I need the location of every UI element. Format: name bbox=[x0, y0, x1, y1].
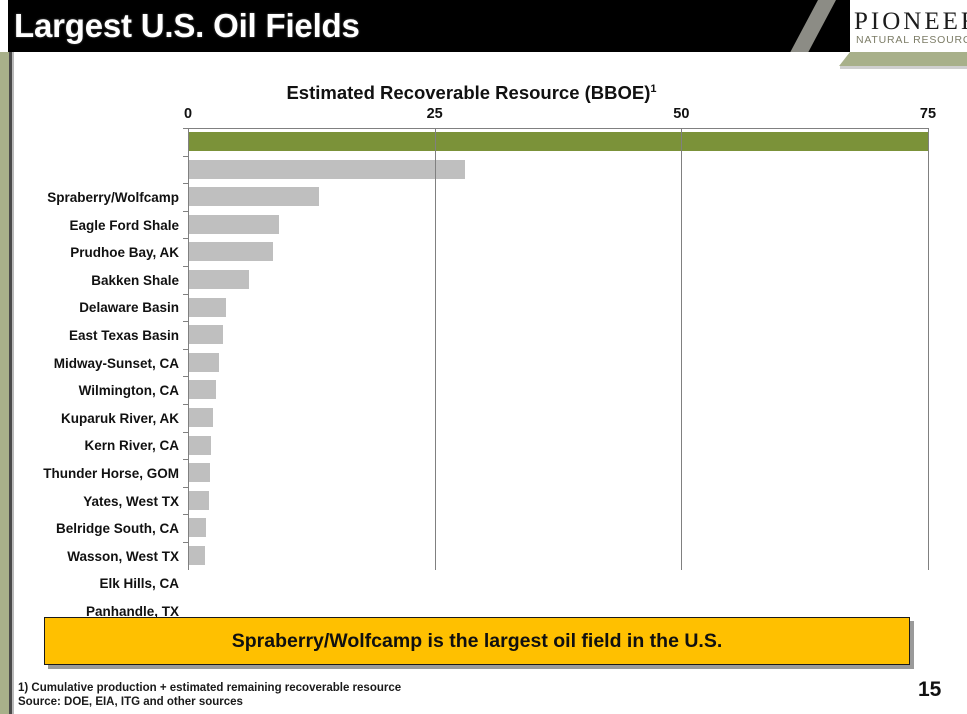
bar-row[interactable] bbox=[188, 514, 929, 542]
y-axis-category-label: Wasson, West TX bbox=[14, 543, 188, 571]
x-tick-label: 50 bbox=[673, 106, 689, 122]
callout-banner-text: Spraberry/Wolfcamp is the largest oil fi… bbox=[232, 630, 723, 653]
chart-title: Estimated Recoverable Resource (BBOE)1 bbox=[14, 82, 929, 104]
bar-row[interactable] bbox=[188, 238, 929, 266]
gridline bbox=[928, 128, 929, 570]
y-axis-category-label: Belridge South, CA bbox=[14, 515, 188, 543]
logo-tagline: NATURAL RESOURCES bbox=[856, 34, 967, 46]
y-axis-category-label: Delaware Basin bbox=[14, 294, 188, 322]
bar[interactable] bbox=[189, 353, 219, 372]
y-axis-category-label: Thunder Horse, GOM bbox=[14, 460, 188, 488]
x-tick-label: 0 bbox=[184, 106, 192, 122]
bar[interactable] bbox=[189, 546, 205, 565]
bar-row[interactable] bbox=[188, 487, 929, 515]
y-axis-category-label: Prudhoe Bay, AK bbox=[14, 239, 188, 267]
y-axis-category-label: Elk Hills, CA bbox=[14, 570, 188, 598]
y-axis-category-label: Kern River, CA bbox=[14, 432, 188, 460]
footnote-source: Source: DOE, EIA, ITG and other sources bbox=[18, 695, 638, 709]
x-axis-tick-labels: 0255075 bbox=[188, 106, 928, 126]
y-axis-category-label: Wilmington, CA bbox=[14, 377, 188, 405]
bar-chart: Estimated Recoverable Resource (BBOE)1 0… bbox=[14, 56, 967, 596]
y-axis-category-label: Midway-Sunset, CA bbox=[14, 350, 188, 378]
bar-row[interactable] bbox=[188, 349, 929, 377]
y-axis-category-label: Eagle Ford Shale bbox=[14, 212, 188, 240]
page-title: Largest U.S. Oil Fields bbox=[14, 3, 360, 49]
slide: Largest U.S. Oil Fields PIONEER NATURAL … bbox=[0, 0, 967, 714]
bars-container bbox=[188, 128, 929, 570]
bar[interactable] bbox=[189, 132, 929, 151]
bar[interactable] bbox=[189, 270, 249, 289]
y-axis-category-label: Kuparuk River, AK bbox=[14, 405, 188, 433]
gridline bbox=[681, 128, 682, 570]
bar[interactable] bbox=[189, 518, 206, 537]
bar[interactable] bbox=[189, 187, 319, 206]
bar[interactable] bbox=[189, 491, 209, 510]
x-tick-label: 75 bbox=[920, 106, 936, 122]
bar[interactable] bbox=[189, 436, 211, 455]
chart-title-footnote-marker: 1 bbox=[650, 83, 656, 95]
bar-row[interactable] bbox=[188, 156, 929, 184]
bar-row[interactable] bbox=[188, 432, 929, 460]
footnote-1: 1) Cumulative production + estimated rem… bbox=[18, 681, 638, 695]
bar[interactable] bbox=[189, 215, 279, 234]
bar-row[interactable] bbox=[188, 404, 929, 432]
y-axis-category-label: Bakken Shale bbox=[14, 267, 188, 295]
bar[interactable] bbox=[189, 325, 223, 344]
gridline bbox=[435, 128, 436, 570]
footnotes: 1) Cumulative production + estimated rem… bbox=[18, 681, 638, 709]
y-axis-category-label: East Texas Basin bbox=[14, 322, 188, 350]
callout-banner: Spraberry/Wolfcamp is the largest oil fi… bbox=[44, 617, 910, 665]
plot-area bbox=[188, 128, 928, 576]
bar[interactable] bbox=[189, 160, 465, 179]
chart-title-text: Estimated Recoverable Resource (BBOE) bbox=[286, 82, 650, 103]
y-axis-category-labels: Spraberry/WolfcampEagle Ford ShalePrudho… bbox=[14, 184, 188, 626]
bar-row[interactable] bbox=[188, 266, 929, 294]
bar-row[interactable] bbox=[188, 459, 929, 487]
bar-row[interactable] bbox=[188, 321, 929, 349]
y-axis-category-label: Yates, West TX bbox=[14, 488, 188, 516]
bar-row[interactable] bbox=[188, 211, 929, 239]
logo-wordmark: PIONEER bbox=[854, 8, 967, 36]
bar-row[interactable] bbox=[188, 294, 929, 322]
bar-row[interactable] bbox=[188, 376, 929, 404]
bar-row[interactable] bbox=[188, 542, 929, 570]
left-edge-stripe bbox=[0, 52, 9, 714]
bar[interactable] bbox=[189, 463, 210, 482]
gridline bbox=[188, 128, 189, 570]
header-left-notch bbox=[0, 0, 8, 52]
logo: PIONEER NATURAL RESOURCES bbox=[850, 0, 967, 52]
bar[interactable] bbox=[189, 380, 216, 399]
bar[interactable] bbox=[189, 242, 273, 261]
page-number: 15 bbox=[918, 678, 941, 702]
bar[interactable] bbox=[189, 298, 226, 317]
x-tick-label: 25 bbox=[427, 106, 443, 122]
slide-header: Largest U.S. Oil Fields bbox=[0, 0, 967, 52]
bar[interactable] bbox=[189, 408, 213, 427]
bar-row[interactable] bbox=[188, 183, 929, 211]
bar-row[interactable] bbox=[188, 128, 929, 156]
y-axis-category-label: Spraberry/Wolfcamp bbox=[14, 184, 188, 212]
